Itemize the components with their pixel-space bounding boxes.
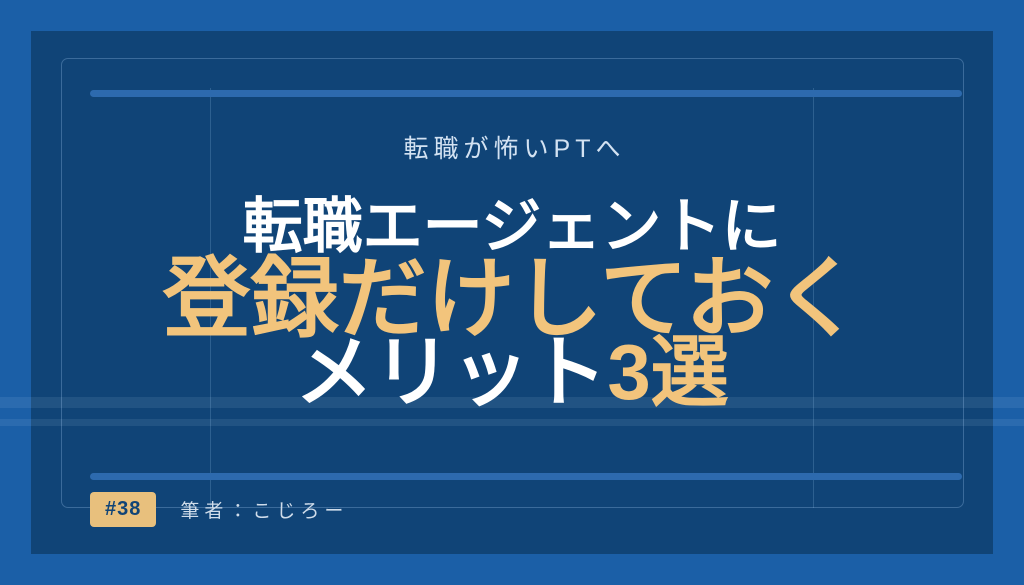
episode-number-badge: #38 [90, 492, 156, 527]
headline-line-3: メリット3選 [0, 333, 1024, 411]
author-byline: 筆者：こじろー [180, 496, 348, 523]
headline-line-1: 転職エージェントに [0, 197, 1024, 257]
thumbnail-canvas: 転職が怖いPTへ 転職エージェントに 登録だけしておく メリット3選 #38 筆… [0, 0, 1024, 585]
subtitle: 転職が怖いPTへ [0, 129, 1024, 165]
headline-line-3-text-white: メリット [295, 328, 607, 416]
footer: #38 筆者：こじろー [90, 489, 348, 529]
headline-line-3-text-orange: 3選 [607, 328, 728, 416]
accent-rule-bottom [90, 473, 962, 480]
accent-rule-top [90, 90, 962, 97]
